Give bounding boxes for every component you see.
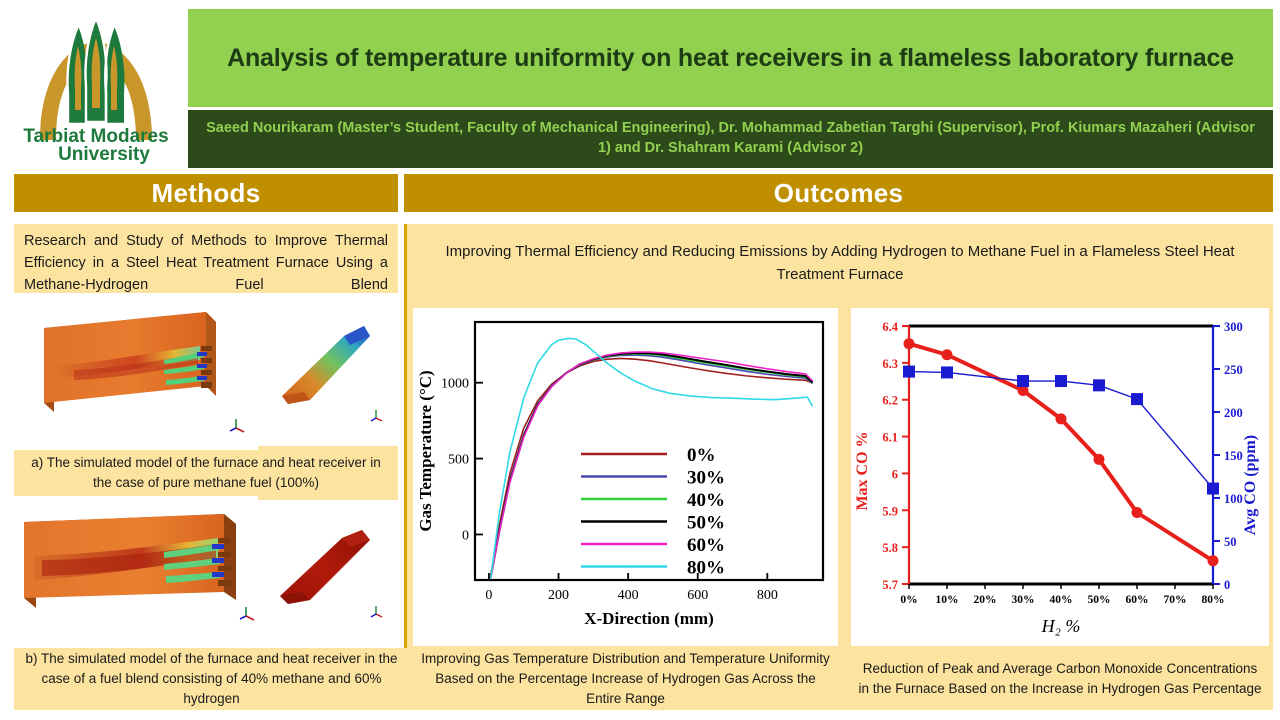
svg-text:200: 200 [548,588,569,603]
svg-text:250: 250 [1224,363,1243,377]
section-header-methods: Methods [14,174,398,212]
logo-artwork: Tarbiat Modares University [8,4,184,170]
figure-b-render [14,500,398,646]
svg-text:50: 50 [1224,535,1237,549]
svg-text:70%: 70% [1164,594,1187,606]
logo-text-line2: University [58,144,150,165]
svg-text:20%: 20% [974,594,997,606]
svg-text:40%: 40% [1050,594,1073,606]
svg-text:Avg CO (ppm): Avg CO (ppm) [1242,435,1259,535]
svg-text:5.8: 5.8 [882,541,898,555]
gas-temperature-plot: 020040060080005001000X-Direction (mm)Gas… [413,308,838,646]
svg-text:400: 400 [618,588,639,603]
co-concentration-plot: 5.75.85.966.16.26.36.4050100150200250300… [851,308,1269,646]
outcomes-intro-text: Improving Thermal Efficiency and Reducin… [420,234,1260,292]
svg-text:800: 800 [757,588,778,603]
poster-title-band: Analysis of temperature uniformity on he… [188,9,1273,107]
svg-text:6.1: 6.1 [882,431,898,445]
section-header-methods-label: Methods [152,178,261,209]
svg-text:5.7: 5.7 [882,578,898,592]
axis-triad-icon [230,419,244,432]
axis-triad-icon-4 [371,606,382,617]
svg-text:60%: 60% [687,535,725,556]
svg-text:0%: 0% [687,445,716,466]
svg-text:Max CO %: Max CO % [854,431,871,510]
svg-text:Gas Temperature (°C): Gas Temperature (°C) [416,370,435,531]
svg-text:10%: 10% [936,594,959,606]
svg-text:40%: 40% [687,490,725,511]
gas-temperature-caption: Improving Gas Temperature Distribution a… [413,648,838,710]
svg-text:H₂ %: H₂ % [1041,616,1081,636]
svg-text:0: 0 [462,528,469,543]
svg-text:500: 500 [448,453,469,468]
section-header-outcomes-label: Outcomes [774,178,904,209]
svg-text:60%: 60% [1126,594,1149,606]
svg-text:80%: 80% [687,558,725,579]
svg-text:6.3: 6.3 [882,357,898,371]
svg-text:600: 600 [687,588,708,603]
figure-a-artwork [14,300,398,446]
figure-a-render [14,300,398,446]
svg-text:0: 0 [1224,578,1230,592]
section-header-outcomes: Outcomes [404,174,1273,212]
poster-authors-band: Saeed Nourikaram (Master’s Student, Facu… [188,110,1273,168]
svg-text:30%: 30% [1012,594,1035,606]
co-concentration-chart: 5.75.85.966.16.26.36.4050100150200250300… [851,308,1269,646]
svg-text:5.9: 5.9 [882,504,898,518]
gas-temperature-chart: 020040060080005001000X-Direction (mm)Gas… [413,308,838,646]
svg-text:X-Direction (mm): X-Direction (mm) [584,609,714,628]
methods-intro-text: Research and Study of Methods to Improve… [14,224,398,293]
svg-text:300: 300 [1224,320,1243,334]
figure-a-caption: a) The simulated model of the furnace an… [14,450,398,496]
svg-text:50%: 50% [687,513,725,534]
svg-text:200: 200 [1224,406,1243,420]
poster-root: Tarbiat Modares University Analysis of t… [0,0,1280,720]
svg-text:0: 0 [485,588,492,603]
poster-authors: Saeed Nourikaram (Master’s Student, Facu… [202,119,1259,158]
svg-text:150: 150 [1224,449,1243,463]
svg-text:30%: 30% [687,468,725,489]
co-concentration-caption: Reduction of Peak and Average Carbon Mon… [851,648,1269,710]
figure-b-artwork [14,500,398,646]
svg-text:1000: 1000 [441,377,469,392]
axis-triad-icon-3 [240,607,254,620]
svg-text:6.4: 6.4 [882,320,898,334]
svg-text:6.2: 6.2 [882,394,898,408]
poster-title: Analysis of temperature uniformity on he… [227,43,1234,74]
figure-b-caption: b) The simulated model of the furnace an… [14,648,409,710]
svg-text:0%: 0% [900,594,917,606]
svg-text:6: 6 [892,467,898,481]
svg-text:100: 100 [1224,492,1243,506]
university-logo: Tarbiat Modares University [8,4,184,170]
svg-text:50%: 50% [1088,594,1111,606]
axis-triad-icon-2 [371,410,382,421]
svg-text:80%: 80% [1202,594,1225,606]
